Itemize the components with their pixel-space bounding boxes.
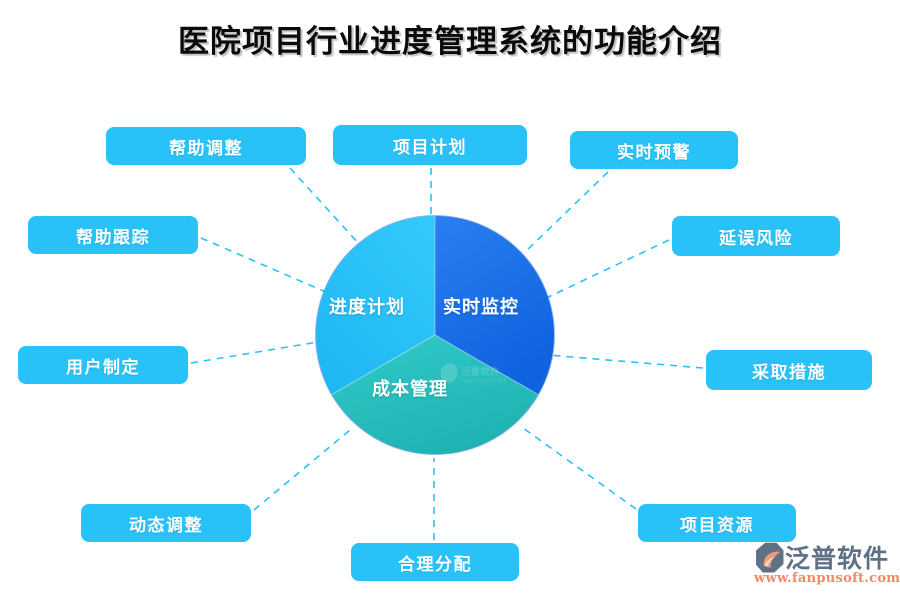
- feature-label-project-resource[interactable]: 项目资源: [638, 504, 796, 542]
- feature-label-project-plan[interactable]: 项目计划: [333, 125, 527, 165]
- feature-label-text: 实时预警: [617, 138, 691, 163]
- pie-chart: 泛普软件 FANPU SOFTWARE 实时监控 成本管理 进度计划: [315, 215, 555, 455]
- pie-chart-svg: [315, 215, 555, 455]
- feature-label-take-measures[interactable]: 采取措施: [706, 350, 872, 390]
- feature-label-rational-allocate[interactable]: 合理分配: [351, 543, 519, 581]
- feature-label-help-track[interactable]: 帮助跟踪: [28, 216, 198, 254]
- infographic-canvas: 医院项目行业进度管理系统的功能介绍: [0, 0, 900, 600]
- pie-slice-label-realtime-monitor: 实时监控: [443, 293, 519, 319]
- feature-label-text: 帮助跟踪: [76, 223, 150, 248]
- feature-label-realtime-alert[interactable]: 实时预警: [570, 131, 738, 169]
- feature-label-dynamic-adjust[interactable]: 动态调整: [81, 504, 251, 542]
- feature-label-text: 帮助调整: [169, 134, 243, 159]
- feature-label-text: 项目资源: [680, 511, 754, 536]
- brand-logo-name: 泛普软件: [785, 539, 889, 575]
- pie-slice-label-cost-management: 成本管理: [372, 375, 448, 401]
- feature-label-text: 动态调整: [129, 511, 203, 536]
- pie-slice-label-schedule-plan: 进度计划: [329, 293, 405, 319]
- feature-label-text: 项目计划: [393, 133, 467, 158]
- feature-label-user-define[interactable]: 用户制定: [18, 346, 188, 384]
- brand-logo-url: www.fanpusoft.com: [754, 571, 900, 586]
- brand-logo: 泛普软件 www.fanpusoft.com: [752, 540, 892, 592]
- feature-label-text: 延误风险: [719, 224, 793, 249]
- feature-label-text: 合理分配: [398, 550, 472, 575]
- feature-label-text: 用户制定: [66, 353, 140, 378]
- feature-label-delay-risk[interactable]: 延误风险: [672, 216, 840, 256]
- connector-take-measures: [548, 355, 703, 368]
- connector-user-define: [191, 340, 330, 363]
- connector-delay-risk: [542, 240, 669, 300]
- feature-label-help-adjust[interactable]: 帮助调整: [106, 127, 306, 165]
- feature-label-text: 采取措施: [752, 358, 826, 383]
- brand-logo-mark-icon: [752, 542, 786, 574]
